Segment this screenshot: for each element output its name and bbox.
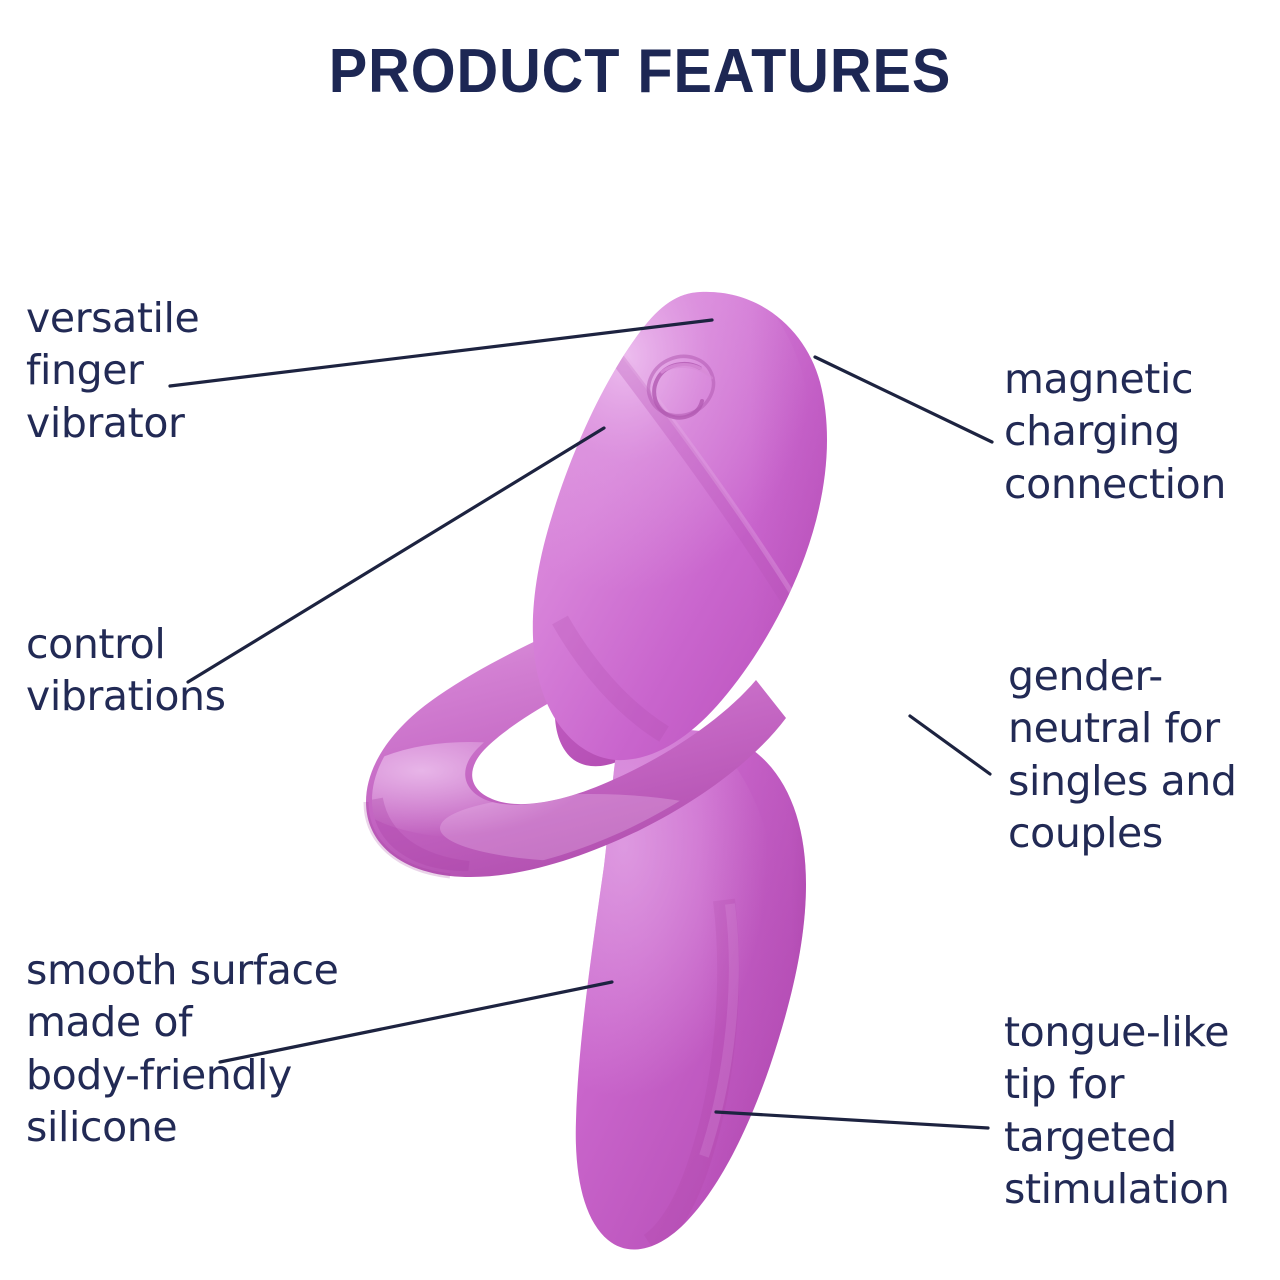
infographic-canvas: PRODUCT FEATURES [0,0,1280,1280]
product-head [512,250,860,780]
callout-label-versatile-finger-vibrator: versatile finger vibrator [26,292,199,449]
callout-label-gender-neutral: gender- neutral for singles and couples [1008,650,1237,860]
callout-label-smooth-surface-silicone: smooth surface made of body-friendly sil… [26,944,339,1154]
callout-label-tongue-like-tip: tongue-like tip for targeted stimulation [1004,1006,1229,1216]
callout-label-control-vibrations: control vibrations [26,618,226,723]
callout-label-magnetic-charging-connection: magnetic charging connection [1004,353,1226,510]
